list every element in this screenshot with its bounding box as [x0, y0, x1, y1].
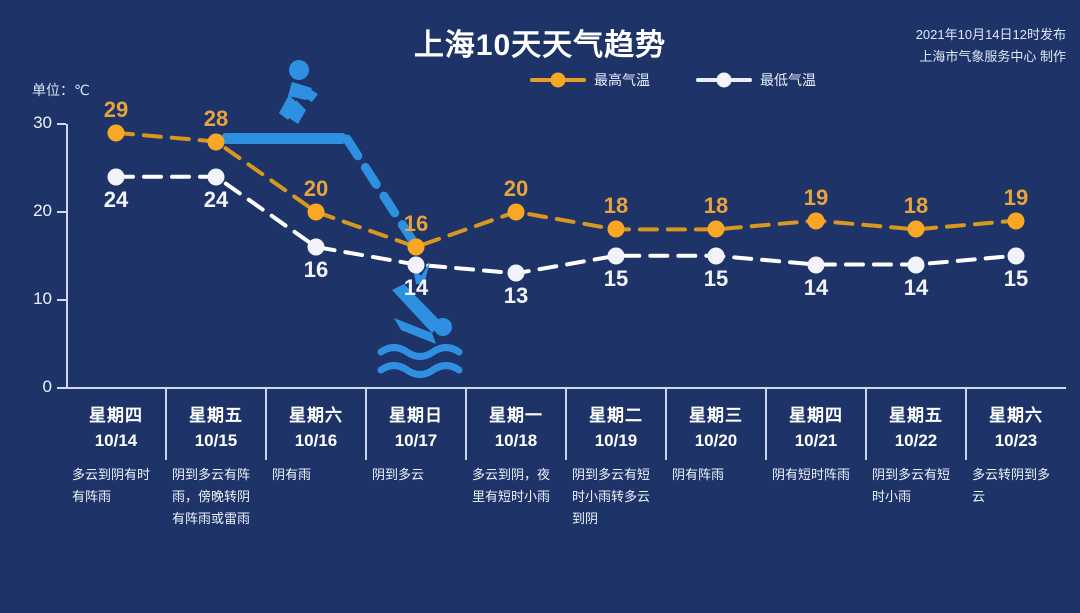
low-temp-point	[108, 168, 125, 185]
runner-icon	[279, 60, 318, 124]
weekday-label: 星期六	[966, 401, 1066, 426]
low-temp-point	[708, 247, 725, 264]
low-temp-point	[308, 238, 325, 255]
weekday-label: 星期六	[266, 401, 366, 426]
high-temp-point	[108, 124, 125, 141]
weekday-label: 星期日	[366, 401, 466, 426]
weather-description: 多云到阴，夜里有短时小雨	[466, 464, 566, 508]
low-temp-value: 15	[604, 266, 628, 292]
high-temp-value: 20	[504, 176, 528, 202]
date-label: 10/14	[66, 431, 166, 451]
forecast-day-column[interactable]: 星期一10/18多云到阴，夜里有短时小雨	[466, 389, 566, 508]
low-temp-point	[208, 168, 225, 185]
low-temp-value: 14	[904, 275, 928, 301]
forecast-day-column[interactable]: 星期三10/20阴有阵雨	[666, 389, 766, 486]
weather-description: 阴到多云	[366, 464, 466, 486]
y-axis-tick	[57, 123, 66, 125]
legend-high-marker-icon	[530, 78, 586, 82]
y-axis-tick	[57, 211, 66, 213]
low-temp-point	[408, 256, 425, 273]
date-label: 10/21	[766, 431, 866, 451]
weekday-label: 星期五	[166, 401, 266, 426]
date-label: 10/15	[166, 431, 266, 451]
high-temp-point	[308, 203, 325, 220]
weekday-label: 星期五	[866, 401, 966, 426]
high-temp-value: 18	[704, 193, 728, 219]
date-label: 10/23	[966, 431, 1066, 451]
high-temp-point	[1008, 212, 1025, 229]
weekday-label: 星期四	[66, 401, 166, 426]
y-axis-label: 30	[10, 113, 52, 133]
low-temp-value: 16	[304, 257, 328, 283]
high-temp-value: 20	[304, 176, 328, 202]
forecast-day-column[interactable]: 星期六10/16阴有雨	[266, 389, 366, 486]
weather-description: 阴有雨	[266, 464, 366, 486]
low-temp-value: 14	[404, 275, 428, 301]
y-axis-label: 10	[10, 289, 52, 309]
chart-legend: 最高气温 最低气温	[530, 70, 816, 90]
publisher-name: 上海市气象服务中心 制作	[916, 46, 1066, 68]
high-temp-value: 16	[404, 211, 428, 237]
y-axis-line	[66, 124, 68, 389]
weather-description: 阴到多云有短时小雨转多云到阴	[566, 464, 666, 530]
waves-icon	[381, 348, 459, 375]
weather-description: 多云到阴有时有阵雨	[66, 464, 166, 508]
legend-item-high: 最高气温	[530, 70, 650, 90]
weather-description: 阴有阵雨	[666, 464, 766, 486]
weather-description: 阴有短时阵雨	[766, 464, 866, 486]
forecast-table: 星期四10/14多云到阴有时有阵雨星期五10/15阴到多云有阵雨，傍晚转阴有阵雨…	[66, 389, 1066, 613]
high-temp-value: 19	[1004, 185, 1028, 211]
low-temp-point	[508, 265, 525, 282]
legend-item-low: 最低气温	[696, 70, 816, 90]
date-label: 10/16	[266, 431, 366, 451]
legend-low-marker-icon	[696, 78, 752, 82]
high-temp-value: 19	[804, 185, 828, 211]
weather-description: 阴到多云有阵雨，傍晚转阴有阵雨或雷雨	[166, 464, 266, 530]
high-temp-point	[208, 133, 225, 150]
low-temp-line	[116, 177, 1016, 274]
publish-info: 2021年10月14日12时发布 上海市气象服务中心 制作	[916, 24, 1066, 68]
date-label: 10/19	[566, 431, 666, 451]
low-temp-value: 24	[104, 187, 128, 213]
high-temp-point	[808, 212, 825, 229]
low-temp-point	[1008, 247, 1025, 264]
weekday-label: 星期四	[766, 401, 866, 426]
low-temp-point	[608, 247, 625, 264]
low-temp-point	[808, 256, 825, 273]
low-temp-value: 24	[204, 187, 228, 213]
weather-description: 多云转阴到多云	[966, 464, 1066, 508]
diving-board-icon	[221, 133, 347, 144]
weather-trend-infographic: 上海10天天气趋势 2021年10月14日12时发布 上海市气象服务中心 制作 …	[0, 0, 1080, 613]
low-temp-value: 13	[504, 283, 528, 309]
high-temp-point	[508, 203, 525, 220]
high-temp-value: 18	[604, 193, 628, 219]
high-temp-point	[408, 238, 425, 255]
high-temp-point	[708, 221, 725, 238]
weekday-label: 星期一	[466, 401, 566, 426]
weekday-label: 星期三	[666, 401, 766, 426]
y-axis-label: 20	[10, 201, 52, 221]
weather-description: 阴到多云有短时小雨	[866, 464, 966, 508]
low-temp-value: 14	[804, 275, 828, 301]
low-temp-value: 15	[1004, 266, 1028, 292]
date-label: 10/17	[366, 431, 466, 451]
date-label: 10/22	[866, 431, 966, 451]
forecast-day-column[interactable]: 星期五10/22阴到多云有短时小雨	[866, 389, 966, 508]
high-temp-point	[908, 221, 925, 238]
forecast-day-column[interactable]: 星期四10/21阴有短时阵雨	[766, 389, 866, 486]
high-temp-value: 29	[104, 97, 128, 123]
high-temp-value: 28	[204, 106, 228, 132]
low-temp-value: 15	[704, 266, 728, 292]
forecast-day-column[interactable]: 星期二10/19阴到多云有短时小雨转多云到阴	[566, 389, 666, 530]
forecast-day-column[interactable]: 星期五10/15阴到多云有阵雨，傍晚转阴有阵雨或雷雨	[166, 389, 266, 530]
legend-high-label: 最高气温	[594, 70, 650, 90]
date-label: 10/20	[666, 431, 766, 451]
forecast-day-column[interactable]: 星期日10/17阴到多云	[366, 389, 466, 486]
y-axis-tick	[57, 299, 66, 301]
date-label: 10/18	[466, 431, 566, 451]
high-temp-line	[116, 133, 1016, 247]
low-temp-point	[908, 256, 925, 273]
axis-unit-label: 单位：℃	[32, 80, 90, 100]
forecast-day-column[interactable]: 星期六10/23多云转阴到多云	[966, 389, 1066, 508]
high-temp-value: 18	[904, 193, 928, 219]
legend-low-label: 最低气温	[760, 70, 816, 90]
y-axis-tick	[57, 387, 66, 389]
high-temp-point	[608, 221, 625, 238]
forecast-day-column[interactable]: 星期四10/14多云到阴有时有阵雨	[66, 389, 166, 508]
publish-time: 2021年10月14日12时发布	[916, 24, 1066, 46]
y-axis-label: 0	[10, 377, 52, 397]
weekday-label: 星期二	[566, 401, 666, 426]
